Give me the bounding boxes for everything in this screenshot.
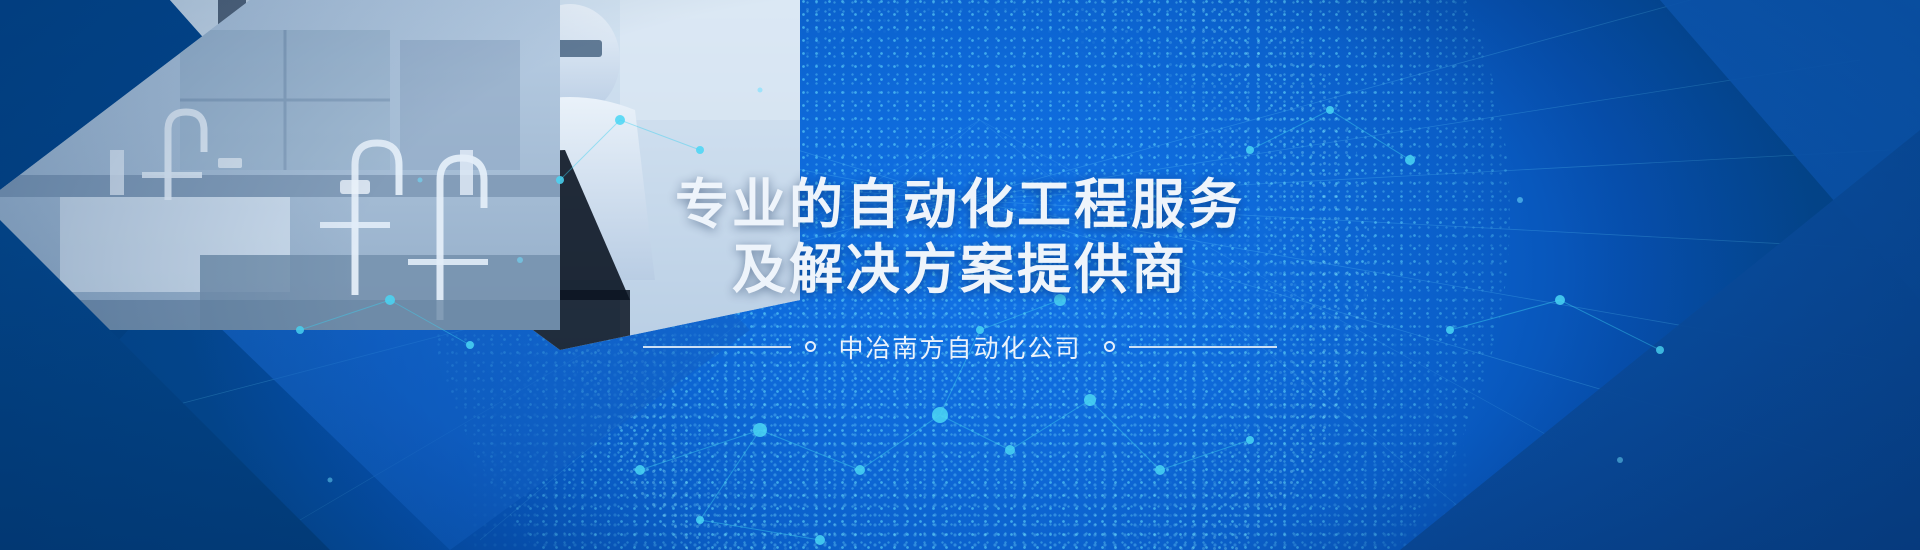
right-rule-divider xyxy=(1129,346,1277,348)
hero-banner: 专业的自动化工程服务 及解决方案提供商 中冶南方自动化公司 xyxy=(0,0,1920,550)
headline-line-2: 及解决方案提供商 xyxy=(675,238,1245,303)
left-rule-divider xyxy=(643,346,791,348)
right-circle-marker-icon xyxy=(1104,341,1115,352)
left-circle-marker-icon xyxy=(805,341,816,352)
headline-line-1: 专业的自动化工程服务 xyxy=(675,175,1245,235)
banner-subtitle: 中冶南方自动化公司 xyxy=(830,329,1089,365)
banner-headline: 专业的自动化工程服务 及解决方案提供商 xyxy=(675,173,1245,303)
banner-content: 专业的自动化工程服务 及解决方案提供商 中冶南方自动化公司 xyxy=(0,0,1920,550)
subtitle-row: 中冶南方自动化公司 xyxy=(643,329,1276,365)
